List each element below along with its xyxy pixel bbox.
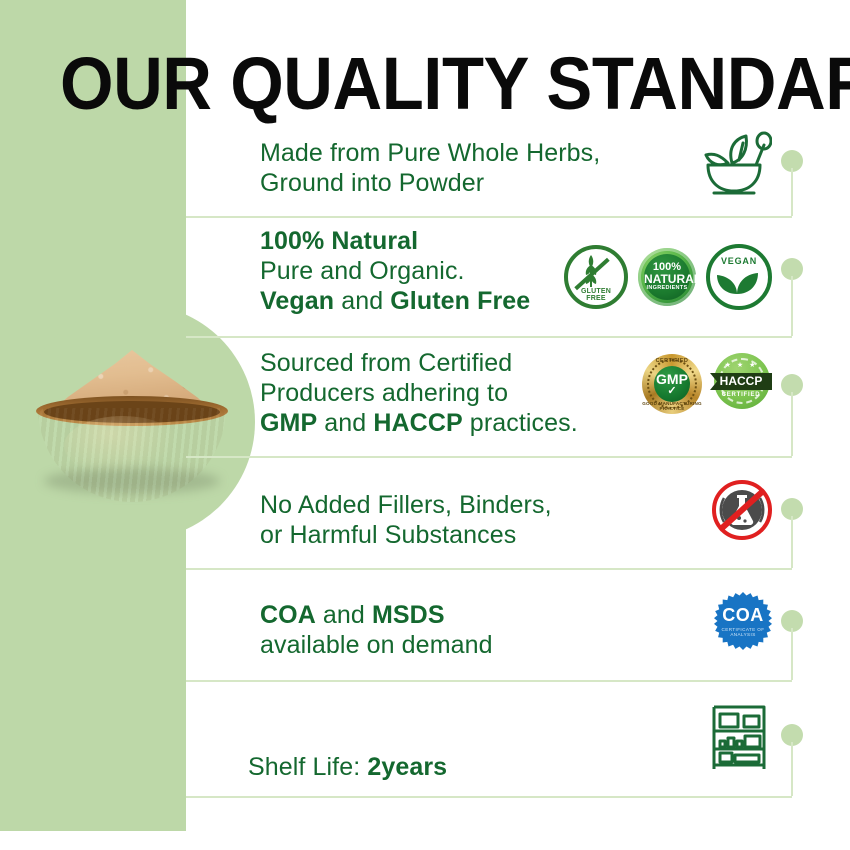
coa-label: COA xyxy=(714,606,772,624)
bowl-highlight xyxy=(64,416,181,476)
row-whole-herbs-connector xyxy=(791,168,793,216)
row-no-fillers-text: No Added Fillers, Binders, or Harmful Su… xyxy=(260,490,552,550)
haccp-banner: HACCP xyxy=(710,373,772,390)
mortar-and-pestle-icon xyxy=(698,131,772,206)
storage-shelf-icon xyxy=(706,703,772,778)
row-coa-msds-text: COA and MSDS available on demand xyxy=(260,600,493,660)
row-coa-msds-connector xyxy=(791,628,793,680)
gmp-check-icon: ✓ xyxy=(654,386,690,397)
row-shelf-life-text: Shelf Life: 2years xyxy=(248,752,447,782)
row-shelf-life: Shelf Life: 2years xyxy=(186,680,792,798)
infographic-canvas: OUR QUALITY STANDARDS Made from Pure Who… xyxy=(0,0,850,850)
row-coa-msds: COA and MSDS available on demand COA CER… xyxy=(186,568,792,682)
natural-sub: INGREDIENTS xyxy=(644,285,690,292)
row-natural-organic-connector xyxy=(791,276,793,336)
gmp-certified-badge: CERTIFIED GMP ✓ GOOD MANUFACTURING PRACT… xyxy=(642,354,702,414)
gmp-top-text: CERTIFIED xyxy=(642,358,702,364)
row-shelf-life-connector xyxy=(791,742,793,796)
gluten-free-label: GLUTEN FREE xyxy=(568,288,624,302)
row-natural-organic: 100% Natural Pure and Organic. Vegan and… xyxy=(186,216,792,338)
row-certified-producers-connector xyxy=(791,392,793,456)
coa-badge: COA CERTIFICATE OF ANALYSIS xyxy=(714,592,772,650)
gmp-core: GMP ✓ xyxy=(654,366,690,402)
row-coa-msds-icons: COA CERTIFICATE OF ANALYSIS xyxy=(686,590,772,652)
100-natural-ingredients-badge: 100% NATURAL INGREDIENTS xyxy=(638,248,696,306)
row-certified-producers-icons: CERTIFIED GMP ✓ GOOD MANUFACTURING PRACT… xyxy=(606,352,772,416)
row-natural-organic-text: 100% Natural Pure and Organic. Vegan and… xyxy=(260,226,530,316)
standards-list: Made from Pure Whole Herbs, Ground into … xyxy=(186,120,806,810)
row-no-fillers-icons xyxy=(686,478,772,542)
gluten-free-badge: GLUTEN FREE xyxy=(564,245,628,309)
row-whole-herbs: Made from Pure Whole Herbs, Ground into … xyxy=(186,120,792,218)
natural-badge-inner: 100% NATURAL INGREDIENTS xyxy=(644,254,690,300)
haccp-certified-badge: ★ ★ ★ HACCP CERTIFIED xyxy=(710,353,772,415)
no-chemicals-flask-icon xyxy=(712,480,772,540)
gmp-bottom-text: GOOD MANUFACTURING PRACTICE xyxy=(642,401,702,411)
haccp-stars: ★ ★ ★ xyxy=(710,361,772,369)
row-whole-herbs-text: Made from Pure Whole Herbs, Ground into … xyxy=(260,138,600,198)
row-certified-producers: Sourced from Certified Producers adherin… xyxy=(186,336,792,458)
row-no-fillers: No Added Fillers, Binders, or Harmful Su… xyxy=(186,456,792,570)
row-whole-herbs-icons xyxy=(686,132,772,204)
vegan-badge: VEGAN xyxy=(706,244,772,310)
coa-sub-label: CERTIFICATE OF ANALYSIS xyxy=(714,627,772,637)
row-natural-organic-icons: GLUTEN FREE 100% NATURAL INGREDIENTS VEG… xyxy=(554,246,772,308)
row-certified-producers-text: Sourced from Certified Producers adherin… xyxy=(260,348,578,438)
page-title: OUR QUALITY STANDARDS xyxy=(60,48,767,120)
natural-word: NATURAL xyxy=(644,273,690,285)
vegan-label: VEGAN xyxy=(710,256,768,266)
row-no-fillers-connector xyxy=(791,516,793,568)
haccp-certified-label: CERTIFIED xyxy=(710,392,772,398)
row-shelf-life-icons xyxy=(686,704,772,776)
